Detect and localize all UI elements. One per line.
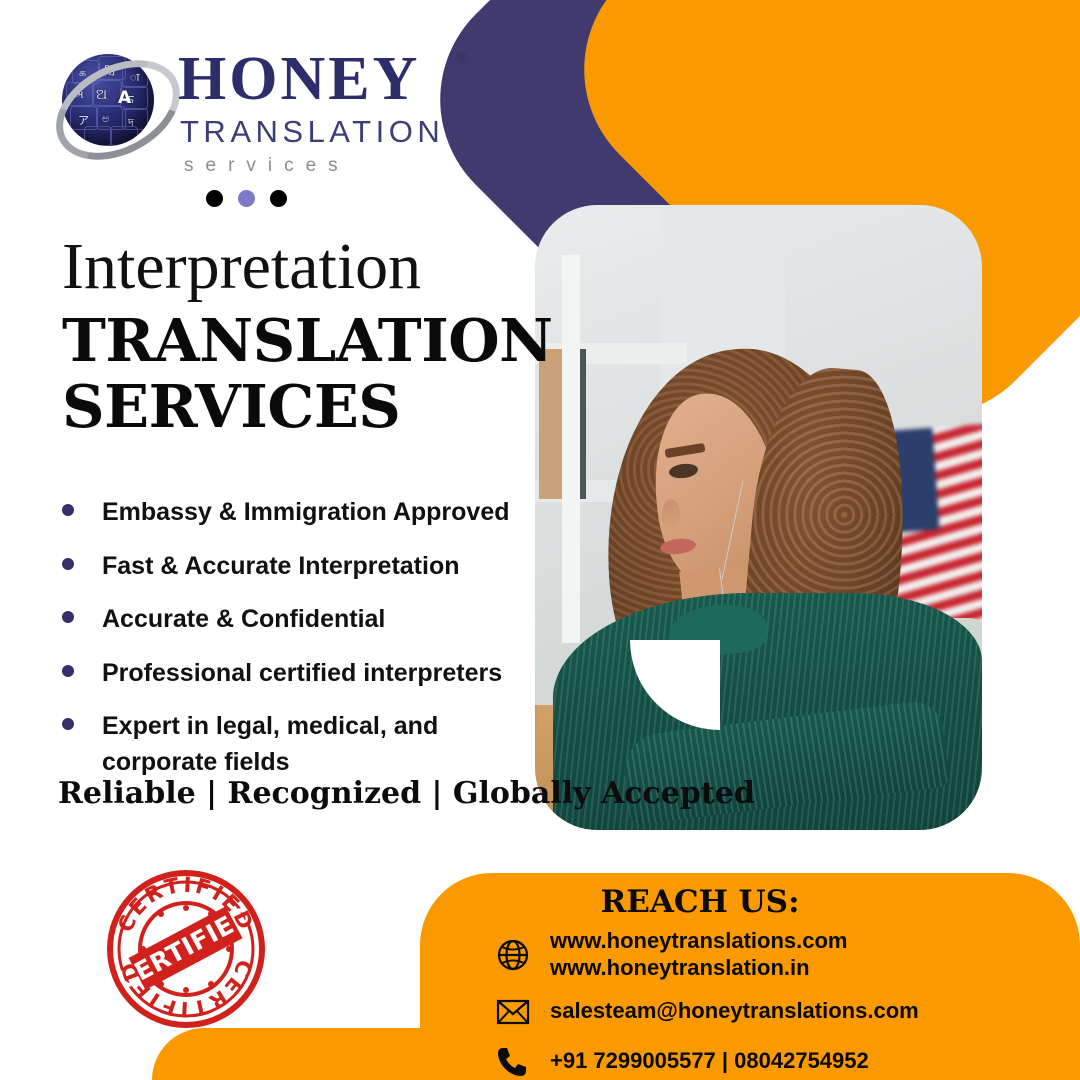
headline-main: TRANSLATION SERVICES bbox=[62, 308, 553, 440]
brand-logo[interactable]: க 閉 ा અ ଅ ऊ ア ಅ দ A HONEY ® TRANSLATION … bbox=[56, 42, 476, 177]
globe-languages-icon: க 閉 ा અ ଅ ऊ ア ಅ দ A bbox=[56, 48, 164, 156]
tagline: Reliable | Recognized | Globally Accepte… bbox=[58, 776, 755, 811]
globe-icon bbox=[492, 935, 534, 975]
website-line-1: www.honeytranslations.com bbox=[550, 928, 847, 955]
features-list: Embassy & Immigration Approved Fast & Ac… bbox=[56, 495, 526, 798]
logo-name-tertiary: services bbox=[184, 156, 350, 175]
bullet-dot-icon bbox=[62, 665, 74, 677]
dot-3 bbox=[270, 190, 287, 207]
orange-top-fill bbox=[660, 0, 1080, 120]
feature-text: Expert in legal, medical, and corporate … bbox=[102, 709, 452, 780]
feature-text: Embassy & Immigration Approved bbox=[102, 495, 510, 531]
contact-website-text: www.honeytranslations.com www.honeytrans… bbox=[550, 928, 847, 982]
phone-icon bbox=[492, 1042, 534, 1080]
feature-text: Accurate & Confidential bbox=[102, 602, 385, 638]
bullet-dot-icon bbox=[62, 718, 74, 730]
certified-stamp-icon: CERTIFIED CERTIFIED CERTIFIED bbox=[105, 868, 267, 1030]
bullet-dot-icon bbox=[62, 558, 74, 570]
reach-title: REACH US: bbox=[420, 884, 980, 920]
registered-mark-icon: ® bbox=[456, 50, 467, 67]
contact-row-email[interactable]: salesteam@honeytranslations.com bbox=[492, 992, 1072, 1032]
envelope-icon bbox=[492, 992, 534, 1032]
reach-contact-list: www.honeytranslations.com www.honeytrans… bbox=[492, 928, 1072, 1080]
headline-script: Interpretation bbox=[62, 234, 421, 300]
bullet-dot-icon bbox=[62, 611, 74, 623]
list-item: Expert in legal, medical, and corporate … bbox=[56, 709, 526, 780]
feature-text: Professional certified interpreters bbox=[102, 656, 502, 692]
logo-name-secondary: TRANSLATION bbox=[180, 116, 444, 147]
dot-1 bbox=[206, 190, 223, 207]
logo-dots bbox=[206, 190, 287, 207]
poster-canvas: க 閉 ा અ ଅ ऊ ア ಅ দ A HONEY ® TRANSLATION … bbox=[0, 0, 1080, 1080]
contact-phone-text: +91 7299005577 | 08042754952 bbox=[550, 1048, 869, 1075]
contact-email-text: salesteam@honeytranslations.com bbox=[550, 998, 919, 1025]
list-item: Accurate & Confidential bbox=[56, 602, 526, 638]
orange-block-shape bbox=[640, 0, 1070, 170]
headline-main-line-2: SERVICES bbox=[62, 374, 553, 440]
contact-row-website[interactable]: www.honeytranslations.com www.honeytrans… bbox=[492, 928, 1072, 982]
list-item: Fast & Accurate Interpretation bbox=[56, 549, 526, 585]
dot-2 bbox=[238, 190, 255, 207]
logo-name-primary: HONEY bbox=[178, 48, 420, 110]
headline-main-line-1: TRANSLATION bbox=[62, 308, 553, 374]
bullet-dot-icon bbox=[62, 504, 74, 516]
website-line-2: www.honeytranslation.in bbox=[550, 955, 847, 982]
interpreter-photo bbox=[535, 205, 982, 830]
contact-row-phone[interactable]: +91 7299005577 | 08042754952 bbox=[492, 1042, 1072, 1080]
list-item: Embassy & Immigration Approved bbox=[56, 495, 526, 531]
list-item: Professional certified interpreters bbox=[56, 656, 526, 692]
feature-text: Fast & Accurate Interpretation bbox=[102, 549, 459, 585]
